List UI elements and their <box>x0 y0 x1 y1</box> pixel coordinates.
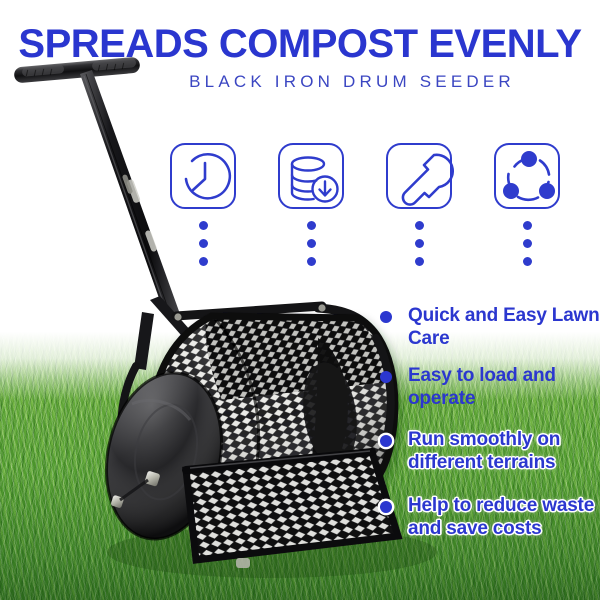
feature-list: Quick and Easy Lawn Care Easy to load an… <box>378 304 600 554</box>
icon-cell-wrench[interactable] <box>386 143 456 213</box>
t-handle-grip <box>14 57 141 84</box>
bullet-dot-icon <box>380 435 392 447</box>
feature-icon-row <box>170 143 566 215</box>
feature-text: Quick and Easy Lawn Care <box>408 304 600 350</box>
icon-cell-load[interactable] <box>278 143 348 213</box>
dots-column-4 <box>523 221 535 275</box>
drum-load-icon <box>278 143 344 209</box>
feature-text: Run smoothly on different terrains <box>408 428 600 474</box>
list-item: Run smoothly on different terrains <box>378 428 600 474</box>
bullet-dot-icon <box>380 501 392 513</box>
telescoping-handle-tube <box>80 70 180 318</box>
icon-cell-clock[interactable] <box>170 143 240 213</box>
clock-icon <box>170 143 236 209</box>
product-marketing-image: SPREADS COMPOST EVENLY BLACK IRON DRUM S… <box>0 0 600 600</box>
cycle-share-icon <box>494 143 560 209</box>
bullet-dot-icon <box>380 311 392 323</box>
dots-column-1 <box>199 221 211 275</box>
list-item: Easy to load and operate <box>378 364 600 410</box>
bullet-dot-icon <box>380 371 392 383</box>
list-item: Help to reduce waste and save costs <box>378 494 600 540</box>
dots-column-3 <box>415 221 427 275</box>
icon-cell-cycle[interactable] <box>494 143 564 213</box>
list-item: Quick and Easy Lawn Care <box>378 304 600 350</box>
wrench-icon <box>386 143 452 209</box>
feature-text: Easy to load and operate <box>408 364 600 410</box>
dots-column-2 <box>307 221 319 275</box>
feature-text: Help to reduce waste and save costs <box>408 494 600 540</box>
